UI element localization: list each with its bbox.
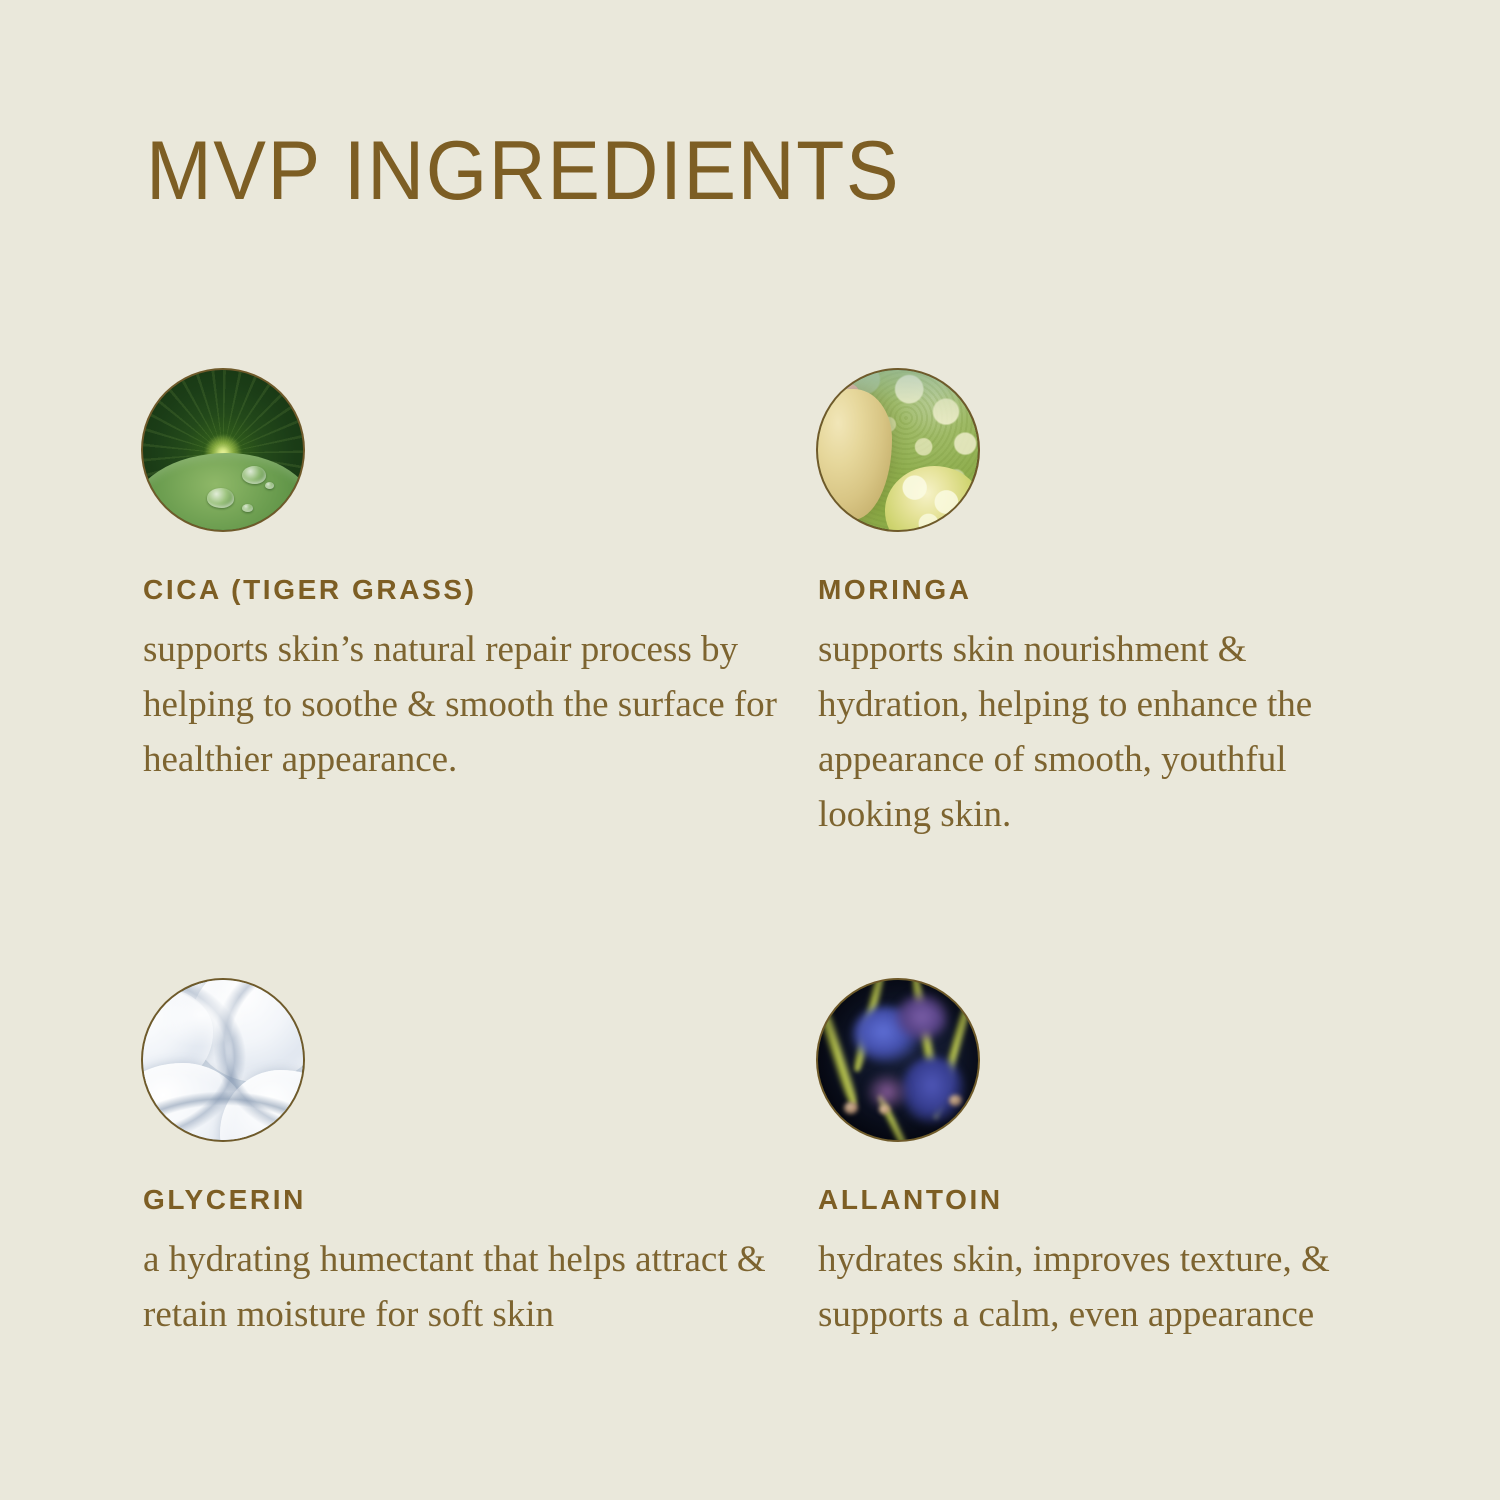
allantoin-image-circle xyxy=(818,980,978,1140)
ingredient-name-allantoin: ALLANTOIN xyxy=(818,1184,1358,1216)
moringa-seed-photo xyxy=(818,370,978,530)
cica-image-circle xyxy=(143,370,303,530)
ingredient-name-cica: CICA (TIGER GRASS) xyxy=(143,574,818,606)
ingredients-grid: CICA (TIGER GRASS) supports skin’s natur… xyxy=(143,370,1358,1342)
water-droplet-icon xyxy=(207,488,234,507)
moringa-image-circle xyxy=(818,370,978,530)
ingredient-description-cica: supports skin’s natural repair process b… xyxy=(143,622,783,787)
ingredient-card-allantoin: ALLANTOIN hydrates skin, improves textur… xyxy=(818,980,1358,1342)
ingredients-row-2: GLYCERIN a hydrating humectant that help… xyxy=(143,980,1358,1342)
glycerin-image-circle xyxy=(143,980,303,1140)
allantoin-comfrey-flower-photo xyxy=(818,980,978,1140)
ingredient-description-moringa: supports skin nourishment & hydration, h… xyxy=(818,622,1358,842)
ingredient-description-allantoin: hydrates skin, improves texture, & suppo… xyxy=(818,1232,1358,1342)
gel-sheen-icon xyxy=(153,983,249,1047)
page-title: MVP INGREDIENTS xyxy=(146,128,900,212)
ingredient-card-cica: CICA (TIGER GRASS) supports skin’s natur… xyxy=(143,370,818,842)
ingredient-card-moringa: MORINGA supports skin nourishment & hydr… xyxy=(818,370,1358,842)
ingredient-description-glycerin: a hydrating humectant that helps attract… xyxy=(143,1232,783,1342)
water-droplet-icon xyxy=(242,466,266,484)
photo-vignette-icon xyxy=(818,980,978,1140)
cica-leaf-photo xyxy=(143,370,303,530)
ingredient-card-glycerin: GLYCERIN a hydrating humectant that help… xyxy=(143,980,818,1342)
glycerin-gel-photo xyxy=(143,980,303,1140)
ingredient-name-moringa: MORINGA xyxy=(818,574,1358,606)
ingredients-page: MVP INGREDIENTS CICA (TIGER GRASS) xyxy=(0,0,1500,1500)
ingredients-row-1: CICA (TIGER GRASS) supports skin’s natur… xyxy=(143,370,1358,842)
ingredient-name-glycerin: GLYCERIN xyxy=(143,1184,818,1216)
water-droplet-icon xyxy=(265,482,275,489)
